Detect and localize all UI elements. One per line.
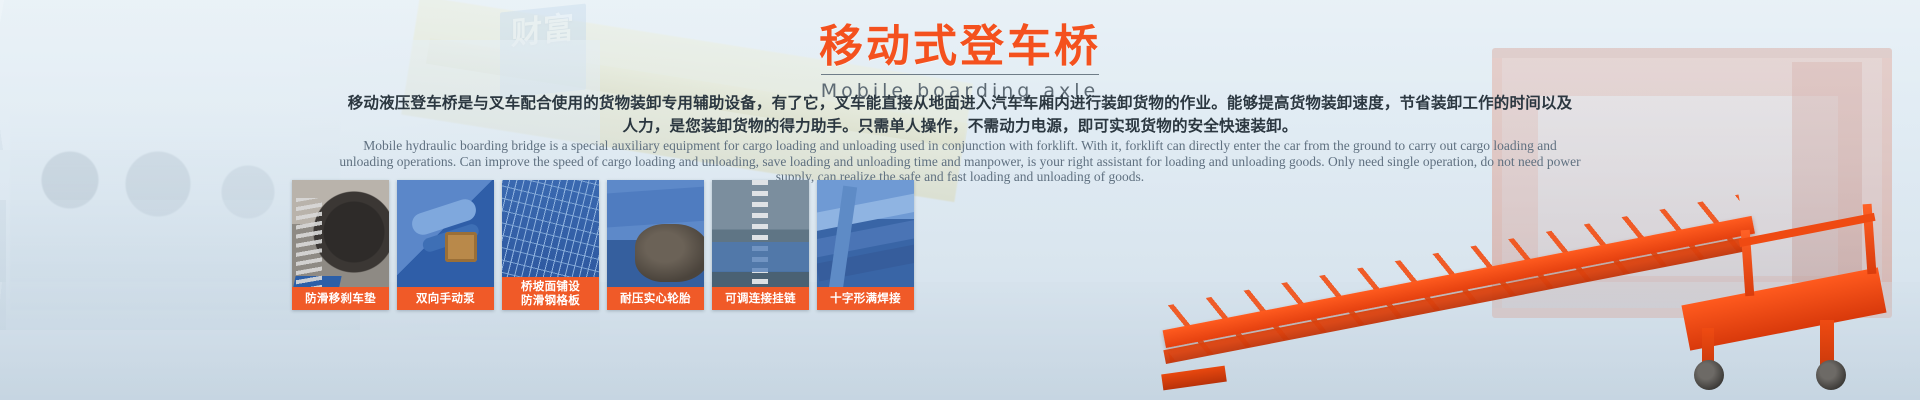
feature-thumbnail[interactable]: 双向手动泵: [397, 180, 494, 310]
feature-caption: 双向手动泵: [397, 287, 494, 310]
ramp-guardrail-top-bar: [1739, 213, 1876, 247]
feature-caption: 可调连接挂链: [712, 287, 809, 310]
description-chinese: 移动液压登车桥是与叉车配合使用的货物装卸专用辅助设备，有了它，叉车能直接从地面进…: [340, 92, 1580, 138]
ramp-wheel: [1816, 360, 1846, 390]
feature-thumbnail[interactable]: 耐压实心轮胎: [607, 180, 704, 310]
feature-caption: 十字形满焊接: [817, 287, 914, 310]
ramp-wheel: [1694, 360, 1724, 390]
feature-thumbnail[interactable]: 可调连接挂链: [712, 180, 809, 310]
page-title: 移动式登车桥: [0, 22, 1920, 72]
mobile-dock-ramp-product-image: [1160, 202, 1920, 392]
feature-thumbnail[interactable]: 防滑移刹车垫: [292, 180, 389, 310]
feature-caption: 防滑移刹车垫: [292, 287, 389, 310]
feature-caption: 桥坡面铺设防滑钢格板: [502, 277, 599, 310]
ramp-deck: [1163, 216, 1755, 348]
feature-thumbnail[interactable]: 桥坡面铺设防滑钢格板: [502, 180, 599, 310]
feature-caption: 耐压实心轮胎: [607, 287, 704, 310]
feature-thumbnail[interactable]: 十字形满焊接: [817, 180, 914, 310]
headline-block: 移动式登车桥 Mobile boarding axle: [0, 22, 1920, 103]
product-banner: 财富 移动式登车桥 Mobile boarding axle 移动液压登车桥是与…: [0, 0, 1920, 400]
description-english: Mobile hydraulic boarding bridge is a sp…: [338, 138, 1583, 185]
ramp-ground-foot: [1161, 366, 1227, 391]
feature-thumbnail-strip: 防滑移刹车垫 双向手动泵 桥坡面铺设防滑钢格板 耐压实心轮胎 可调连接挂链 十字…: [292, 180, 914, 310]
